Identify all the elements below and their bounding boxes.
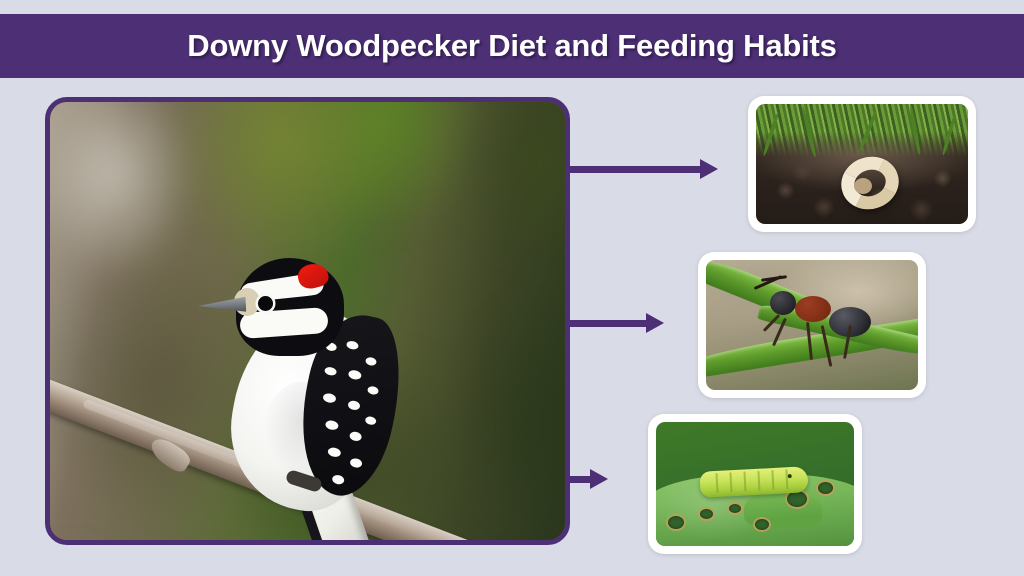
infographic-page: Downy Woodpecker Diet and Feeding Habits: [0, 0, 1024, 576]
grub-photo: [756, 104, 968, 224]
downy-woodpecker-photo: [50, 102, 565, 540]
grass: [756, 104, 968, 157]
caterpillar-eye: [787, 474, 791, 478]
arrow-to-grub: [566, 159, 718, 179]
ant-head: [770, 291, 796, 315]
woodpecker-bird: [200, 222, 450, 540]
arrow-to-caterpillar: [566, 469, 608, 489]
ant-photo: [706, 260, 918, 390]
food-card-caterpillar: [648, 414, 862, 554]
page-title: Downy Woodpecker Diet and Feeding Habits: [187, 28, 836, 64]
arrow-head-icon: [646, 313, 664, 333]
leaf-hole-4: [755, 519, 769, 530]
grub-head: [854, 178, 872, 194]
eye: [258, 296, 273, 311]
caterpillar-photo: [656, 422, 854, 546]
arrow-head-icon: [590, 469, 608, 489]
hero-image-frame: [45, 97, 570, 545]
arrow-to-ant: [566, 313, 664, 333]
arrow-head-icon: [700, 159, 718, 179]
arrow-line: [566, 166, 700, 173]
food-card-grub: [748, 96, 976, 232]
leaf-hole-3: [729, 504, 741, 513]
food-card-ant: [698, 252, 926, 398]
title-banner: Downy Woodpecker Diet and Feeding Habits: [0, 14, 1024, 78]
leaf-hole-6: [818, 482, 833, 494]
leaf-hole-2: [700, 509, 713, 519]
arrow-line: [566, 320, 646, 327]
arrow-line: [566, 476, 590, 483]
